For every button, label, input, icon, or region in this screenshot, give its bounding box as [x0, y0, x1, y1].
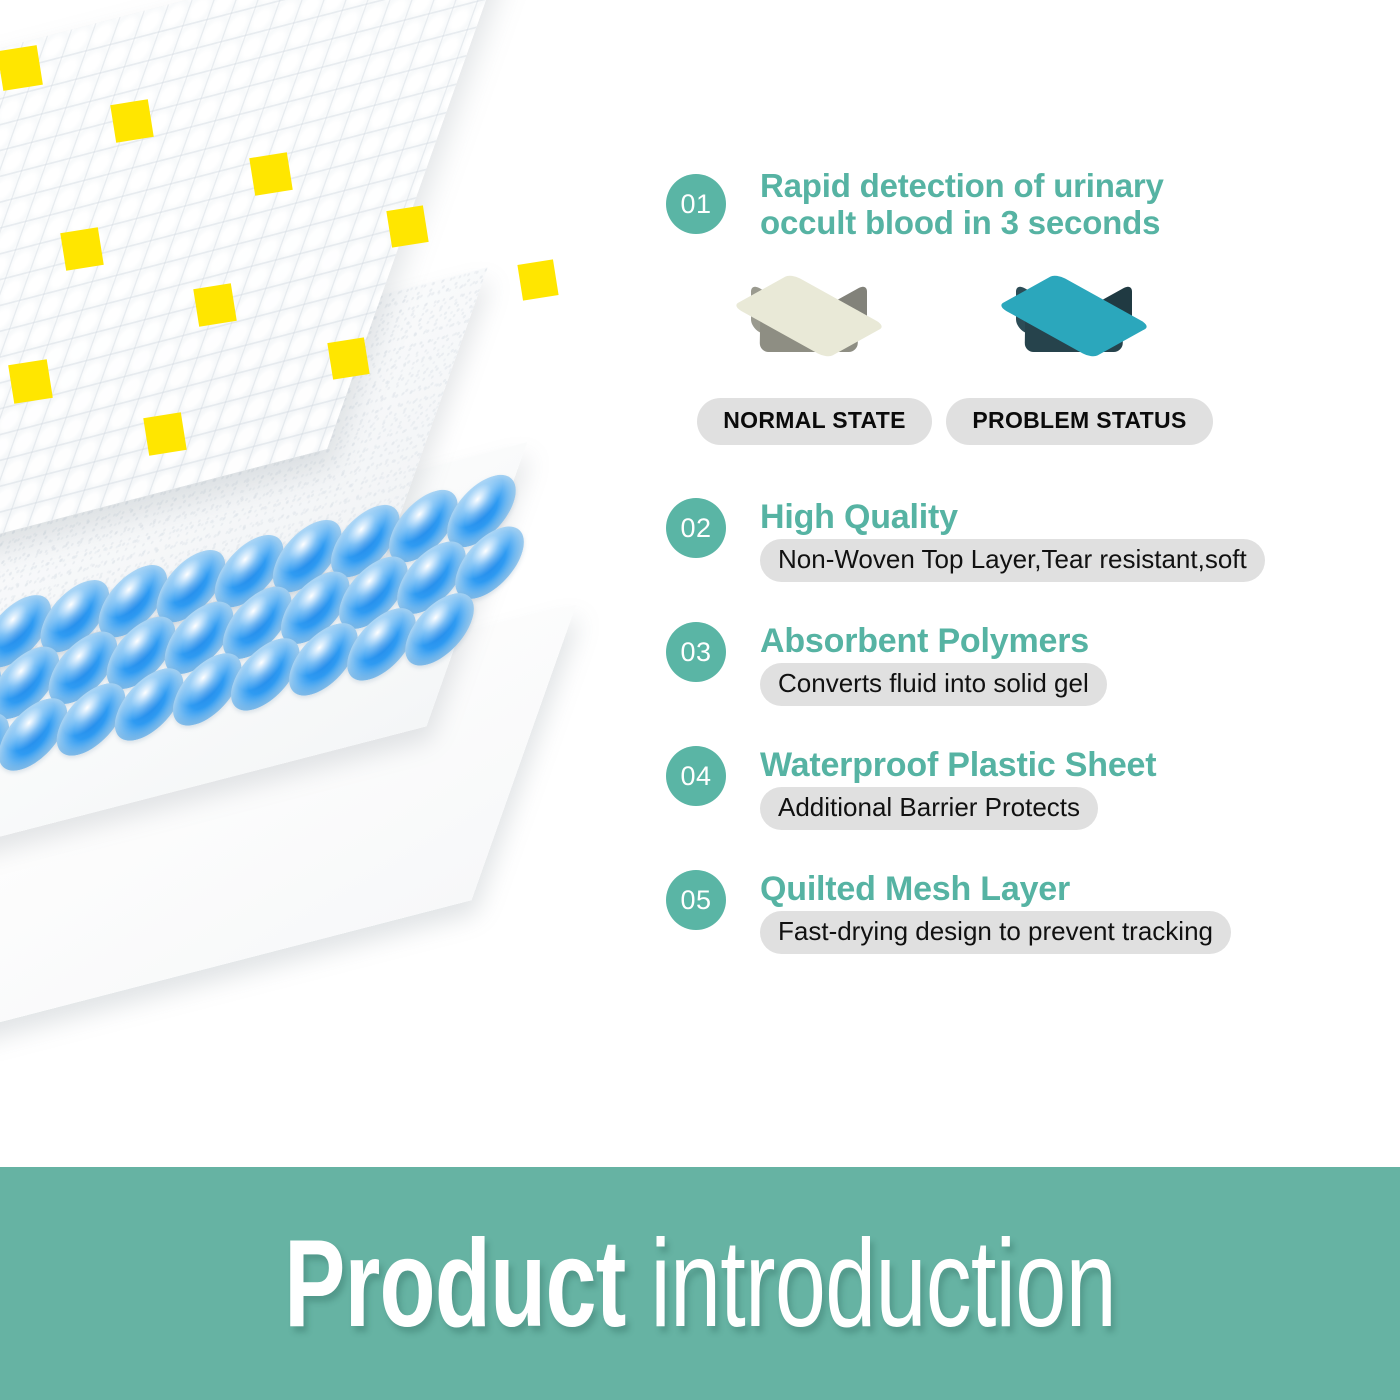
feature-title-05: Quilted Mesh Layer [760, 870, 1386, 908]
chip-cube-problem-icon [1009, 264, 1139, 376]
test-indicator-chips: NORMAL STATE PROBLEM STATUS [682, 264, 1386, 445]
feature-list: 01 Rapid detection of urinary occult blo… [666, 170, 1386, 994]
chip-group-normal: NORMAL STATE [682, 264, 947, 445]
banner-title-light-word: introduction [626, 1215, 1116, 1353]
banner-title: Product introduction [284, 1222, 1116, 1346]
feature-title-02: High Quality [760, 498, 1386, 536]
chip-cube-normal-icon [744, 264, 874, 376]
feature-title-01-line1: Rapid detection of urinary [760, 168, 1386, 205]
urine-indicator-square [0, 45, 43, 91]
feature-description-02: Non-Woven Top Layer,Tear resistant,soft [760, 539, 1265, 582]
feature-badge-01: 01 [666, 174, 726, 234]
feature-item-01: 01 Rapid detection of urinary occult blo… [666, 168, 1386, 498]
banner-title-bold-word: Product [284, 1215, 625, 1353]
feature-item-05: 05 Quilted Mesh Layer Fast-drying design… [666, 870, 1386, 994]
feature-badge-03: 03 [666, 622, 726, 682]
feature-item-02: 02 High Quality Non-Woven Top Layer,Tear… [666, 498, 1386, 622]
urine-indicator-square [143, 412, 186, 455]
urine-indicator-square [193, 283, 236, 326]
urine-indicator-square [327, 337, 369, 379]
feature-item-03: 03 Absorbent Polymers Converts fluid int… [666, 622, 1386, 746]
chip-label-problem-status: PROBLEM STATUS [946, 398, 1212, 445]
infographic-page: 01 Rapid detection of urinary occult blo… [0, 0, 1400, 1400]
feature-item-04: 04 Waterproof Plastic Sheet Additional B… [666, 746, 1386, 870]
urine-indicator-square [60, 227, 103, 270]
urine-indicator-square [110, 99, 153, 142]
chip-group-problem: PROBLEM STATUS [947, 264, 1212, 445]
bottom-banner: Product introduction [0, 1167, 1400, 1400]
urine-indicator-square [386, 205, 428, 247]
feature-badge-05: 05 [666, 870, 726, 930]
feature-badge-04: 04 [666, 746, 726, 806]
urine-indicator-square [8, 359, 53, 404]
product-layers-illustration [0, 0, 680, 1170]
feature-title-01: Rapid detection of urinary occult blood … [760, 168, 1386, 242]
chip-label-normal-state: NORMAL STATE [697, 398, 931, 445]
feature-badge-02: 02 [666, 498, 726, 558]
urine-indicator-square [249, 152, 292, 195]
feature-description-04: Additional Barrier Protects [760, 787, 1098, 830]
feature-description-05: Fast-drying design to prevent tracking [760, 911, 1231, 954]
feature-title-03: Absorbent Polymers [760, 622, 1386, 660]
feature-title-04: Waterproof Plastic Sheet [760, 746, 1386, 784]
feature-title-01-line2: occult blood in 3 seconds [760, 205, 1386, 242]
feature-description-03: Converts fluid into solid gel [760, 663, 1107, 706]
urine-indicator-square [517, 259, 558, 300]
